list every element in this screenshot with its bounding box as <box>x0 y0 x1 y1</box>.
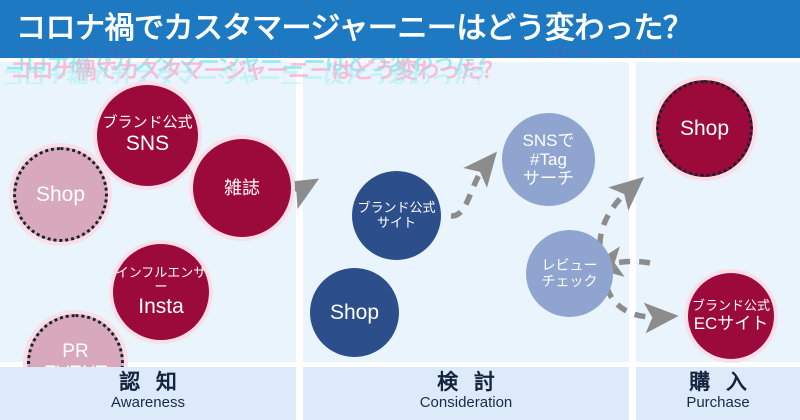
node-shop-visit[interactable]: Shop <box>310 268 399 357</box>
stage-label-purchase: 購 入 Purchase <box>636 367 800 420</box>
page-title: コロナ禍でカスタマージャーニーはどう変わった？ <box>16 14 692 44</box>
node-shop-offline[interactable]: Shop <box>13 147 108 242</box>
node-brand-ec[interactable]: ブランド公式 ECサイト <box>688 273 774 359</box>
node-review-check-line1: レビュー <box>542 258 598 274</box>
node-brand-sns[interactable]: ブランド公式 SNS <box>97 85 198 186</box>
node-brand-sns-line1: ブランド公式 <box>102 115 192 132</box>
node-shop-visit-line1: Shop <box>330 301 379 325</box>
journey-diagram: コロナ禍でカスタマージャーニーはどう変わった？ コロナ禍でカスタマージャーニーは… <box>0 58 800 420</box>
node-influencer[interactable]: インフルエンサー Insta <box>113 244 209 340</box>
stage-label-consideration-ja: 検 討 <box>303 371 629 394</box>
stage-label-consideration-en: Consideration <box>303 395 629 412</box>
stage-label-awareness-en: Awareness <box>0 395 296 412</box>
stage-label-purchase-ja: 購 入 <box>636 371 800 394</box>
node-influencer-line2: Insta <box>138 295 184 319</box>
header-banner: コロナ禍でカスタマージャーニーはどう変わった？ コロナ禍でカスタマージャーニーは… <box>0 0 800 58</box>
node-brand-site[interactable]: ブランド公式 サイト <box>352 171 441 260</box>
node-influencer-line1: インフルエンサー <box>113 266 209 295</box>
node-shop-purchase[interactable]: Shop <box>656 80 753 177</box>
stage-label-awareness: 認 知 Awareness <box>0 367 296 420</box>
node-hashtag-search-line2: #Tag <box>530 150 567 169</box>
node-magazine-line1: 雑誌 <box>224 178 260 198</box>
node-brand-site-line1: ブランド公式 <box>357 201 435 216</box>
stage-label-purchase-en: Purchase <box>636 395 800 412</box>
node-brand-sns-line2: SNS <box>126 132 169 156</box>
header-title-ghost-artifact: コロナ禍でカスタマージャーニーはどう変わった？ <box>16 46 692 58</box>
node-shop-offline-line1: Shop <box>36 183 85 207</box>
stage-label-awareness-ja: 認 知 <box>0 371 296 394</box>
node-pr-event-line1: PR <box>62 341 88 362</box>
screenshot-root: コロナ禍でカスタマージャーニーはどう変わった？ コロナ禍でカスタマージャーニーは… <box>0 0 800 420</box>
node-hashtag-search-line1: SNSで <box>523 131 575 150</box>
node-magazine[interactable]: 雑誌 <box>193 139 291 237</box>
stage-label-consideration: 検 討 Consideration <box>303 367 629 420</box>
node-brand-ec-line2: ECサイト <box>694 314 769 333</box>
node-shop-purchase-line1: Shop <box>680 117 729 141</box>
node-review-check[interactable]: レビュー チェック <box>526 230 613 317</box>
node-review-check-line2: チェック <box>542 274 598 290</box>
node-hashtag-search[interactable]: SNSで #Tag サーチ <box>502 113 595 206</box>
node-brand-site-line2: サイト <box>377 216 416 231</box>
node-hashtag-search-line3: サーチ <box>523 169 574 188</box>
node-brand-ec-line1: ブランド公式 <box>692 299 770 314</box>
